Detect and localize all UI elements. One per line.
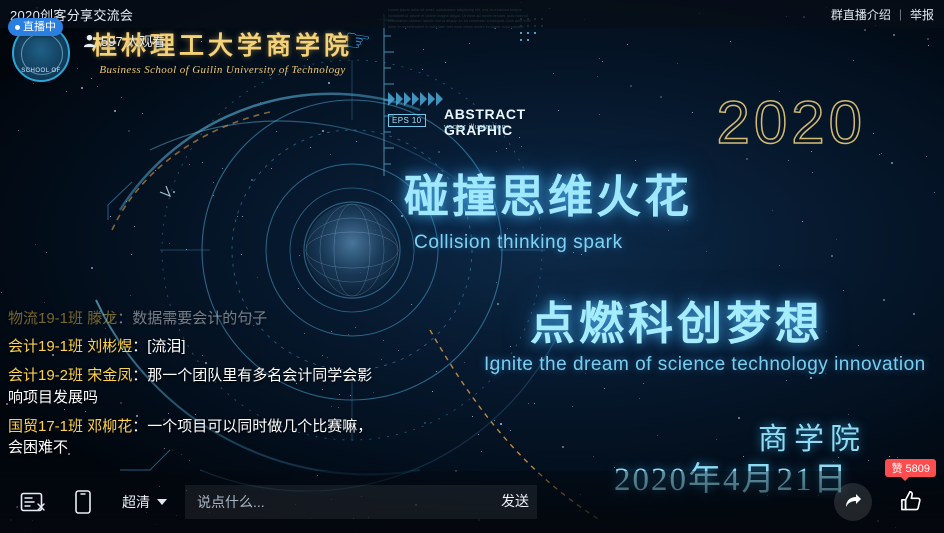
live-status-badge: 直播中 [8,18,63,36]
viewer-count-text: 597 人观看 [101,31,165,50]
pointing-hand-icon: ☞ [342,22,374,60]
eps-label: EPS 10 [388,114,426,127]
mobile-device-icon[interactable] [66,485,100,519]
stage-slogan-en-2: Ignite the dream of science technology i… [484,354,926,376]
screenshot-icon[interactable] [16,485,50,519]
chat-input[interactable] [185,485,537,519]
chat-message-user: 会计19-2班 宋金凤 [8,367,132,384]
top-bar: 2020创客分享交流会 群直播介绍 | 举报 [0,0,944,28]
chevron-down-icon [157,499,167,505]
share-icon[interactable] [834,483,872,521]
chat-input-wrapper[interactable]: 发送 [185,485,537,519]
chat-message-separator: ： [117,310,132,327]
quality-selector[interactable]: 超清 [122,492,167,512]
school-name-en: Business School of Guilin University of … [92,64,353,76]
stage-slogan-en-1: Collision thinking spark [414,232,623,254]
stage-year: 2020 [717,88,866,157]
live-dot-icon [15,25,20,30]
like-count-badge: 赞 5809 [885,459,936,477]
chat-message-user: 物流19-1班 滕龙 [8,310,117,327]
quality-label: 超清 [122,492,150,512]
stage-slogan-cn-2: 点燃科创梦想 [530,287,824,352]
viewer-count: 597 人观看 [82,31,165,50]
avatar-caption: SCHOOL OF [14,68,68,74]
chat-message: 物流19-1班 滕龙：数据需要会计的句子 [8,308,373,330]
like-button[interactable]: 赞 5809 [892,483,930,521]
player-controls-bar: 超清 发送 赞 5809 [0,471,944,533]
send-button[interactable]: 发送 [501,491,529,511]
thumbs-up-icon [898,489,924,515]
chat-message-separator: ： [132,418,147,435]
top-bar-separator: | [899,7,902,21]
chat-message: 会计19-1班 刘彬煜：[流泪] [8,336,373,358]
live-stream-player: Lorem ipsum dolor sit amet, consectetur … [0,0,944,533]
user-icon [82,33,97,48]
abstract-graphic-subtitle: vector illustration [444,122,506,131]
chat-message-text: [流泪] [147,338,185,355]
chat-message: 会计19-2班 宋金凤：那一个团队里有多名会计同学会影响项目发展吗 [8,365,373,409]
chat-message-separator: ： [132,367,147,384]
group-intro-link[interactable]: 群直播介绍 [831,6,891,23]
top-bar-actions: 群直播介绍 | 举报 [831,6,934,23]
chat-messages: 物流19-1班 滕龙：数据需要会计的句子会计19-1班 刘彬煜：[流泪]会计19… [8,301,373,460]
chat-message-user: 国贸17-1班 邓柳花 [8,418,132,435]
streamer-avatar-block[interactable]: SCHOOL OF 直播中 [8,18,74,84]
stage-slogan-cn-1: 碰撞思维火花 [404,160,692,225]
chat-message-user: 会计19-1班 刘彬煜 [8,338,132,355]
chat-message: 国贸17-1班 邓柳花：一个项目可以同时做几个比赛嘛，会困难不 [8,416,373,460]
chat-message-text: 数据需要会计的句子 [132,310,267,327]
live-badge-label: 直播中 [23,18,56,36]
right-controls: 赞 5809 [834,483,930,521]
report-link[interactable]: 举报 [910,6,934,23]
chevron-arrows-icon [388,92,443,106]
chat-message-separator: ： [132,338,147,355]
